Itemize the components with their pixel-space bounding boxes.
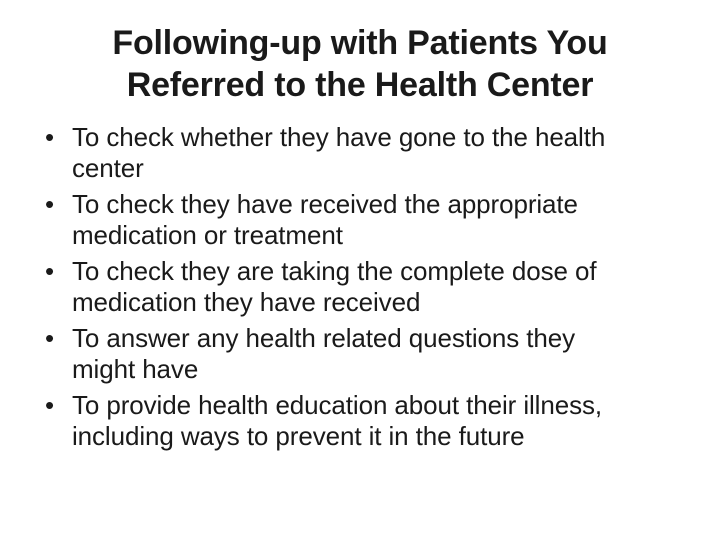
list-item: • To answer any health related questions… bbox=[34, 323, 666, 385]
slide-bullet-list: • To check whether they have gone to the… bbox=[34, 122, 666, 457]
list-item: • To check they are taking the complete … bbox=[34, 256, 666, 318]
list-item-line: center bbox=[72, 153, 666, 184]
list-item-line: including ways to prevent it in the futu… bbox=[72, 421, 666, 452]
list-item-line: To check whether they have gone to the h… bbox=[72, 122, 666, 153]
list-item-line: might have bbox=[72, 354, 666, 385]
list-item-line: To provide health education about their … bbox=[72, 390, 666, 421]
bullet-point-icon: • bbox=[45, 390, 54, 421]
list-item: • To provide health education about thei… bbox=[34, 390, 666, 452]
list-item-line: To answer any health related questions t… bbox=[72, 323, 666, 354]
list-item-text: To answer any health related questions t… bbox=[72, 323, 666, 385]
slide-title: Following-up with Patients You Referred … bbox=[40, 22, 680, 106]
bullet-point-icon: • bbox=[45, 189, 54, 220]
list-item-text: To provide health education about their … bbox=[72, 390, 666, 452]
list-item: • To check whether they have gone to the… bbox=[34, 122, 666, 184]
bullet-point-icon: • bbox=[45, 256, 54, 287]
list-item-line: medication or treatment bbox=[72, 220, 666, 251]
slide-title-line-2: Referred to the Health Center bbox=[40, 64, 680, 106]
list-item-line: To check they are taking the complete do… bbox=[72, 256, 666, 287]
list-item-line: medication they have received bbox=[72, 287, 666, 318]
list-item-text: To check they are taking the complete do… bbox=[72, 256, 666, 318]
list-item: • To check they have received the approp… bbox=[34, 189, 666, 251]
bullet-point-icon: • bbox=[45, 122, 54, 153]
list-item-line: To check they have received the appropri… bbox=[72, 189, 666, 220]
slide-title-line-1: Following-up with Patients You bbox=[40, 22, 680, 64]
presentation-slide: Following-up with Patients You Referred … bbox=[0, 0, 720, 540]
list-item-text: To check they have received the appropri… bbox=[72, 189, 666, 251]
bullet-point-icon: • bbox=[45, 323, 54, 354]
list-item-text: To check whether they have gone to the h… bbox=[72, 122, 666, 184]
